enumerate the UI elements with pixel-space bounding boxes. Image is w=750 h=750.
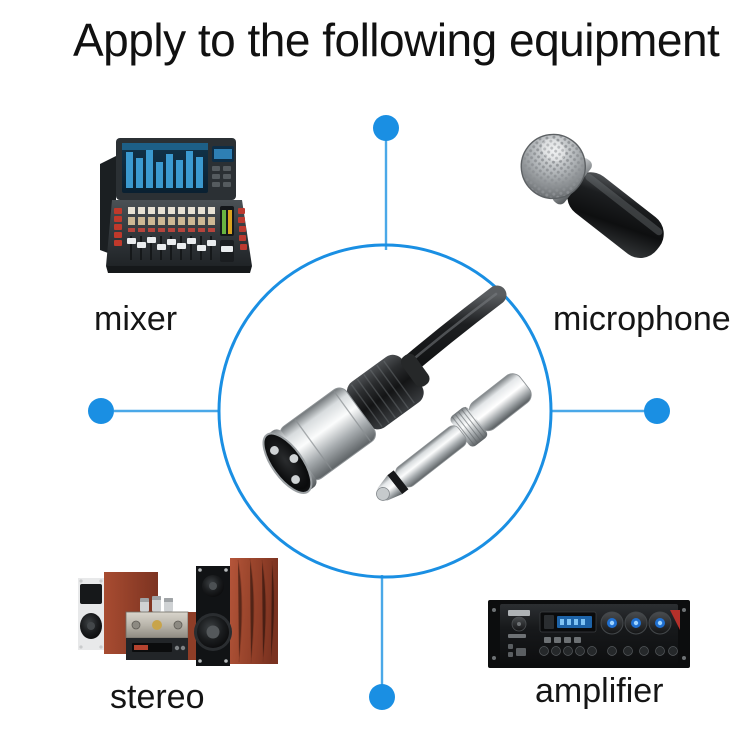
product-cable-image xyxy=(245,265,545,510)
amp-main-knobs xyxy=(601,612,671,634)
infographic-page: Apply to the following equipment xyxy=(0,0,750,750)
equipment-label-amplifier: amplifier xyxy=(535,672,663,710)
equipment-label-microphone: microphone xyxy=(553,300,731,338)
speaker-right xyxy=(194,558,278,666)
equipment-label-mixer: mixer xyxy=(94,300,177,338)
node-top-icon[interactable] xyxy=(373,115,399,141)
microphone-image xyxy=(505,126,677,276)
node-bottom-icon[interactable] xyxy=(369,684,395,710)
mixer-image xyxy=(92,124,264,276)
node-left-icon[interactable] xyxy=(88,398,114,424)
node-right-icon[interactable] xyxy=(644,398,670,424)
equipment-label-stereo: stereo xyxy=(110,678,205,716)
amplifier-image xyxy=(488,596,690,672)
stereo-image xyxy=(68,548,284,674)
